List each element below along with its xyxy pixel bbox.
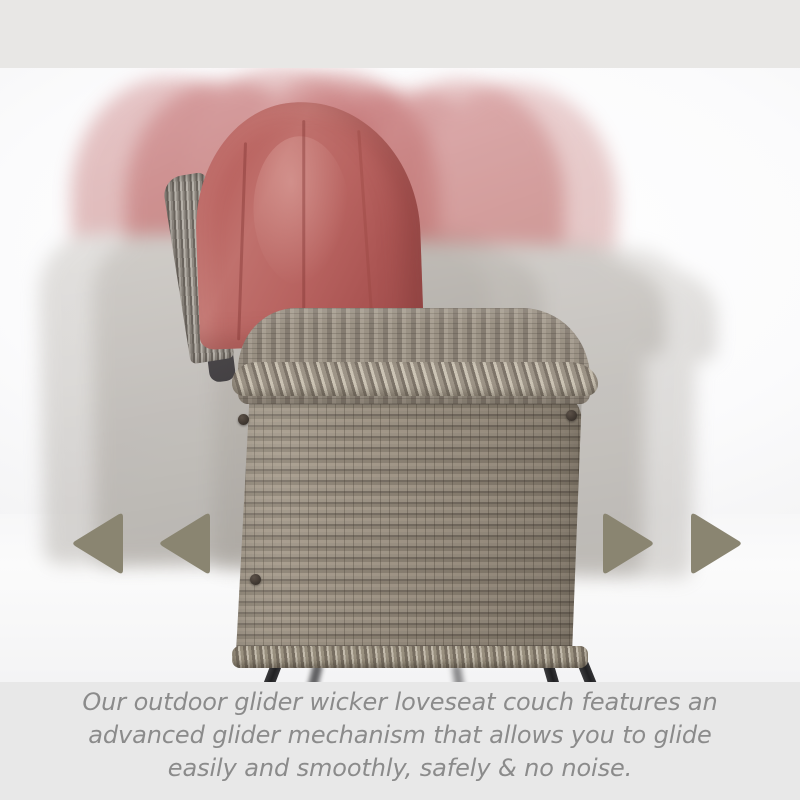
bench-armrest-lip	[232, 362, 598, 396]
product-photo	[0, 62, 800, 682]
header-band	[0, 0, 800, 68]
product-description: Our outdoor glider wicker loveseat couch…	[0, 686, 800, 785]
panel-rivet	[238, 414, 249, 425]
panel-rivet	[250, 574, 261, 585]
product-feature-banner: Patio Glider Bench With Unique Design	[0, 0, 800, 800]
description-line-3: easily and smoothly, safely & no noise.	[0, 752, 800, 785]
description-line-2: advanced glider mechanism that allows yo…	[0, 719, 800, 752]
bench-woven-side-panel	[236, 392, 582, 664]
panel-rivet	[566, 410, 577, 421]
glider-bench	[0, 62, 800, 682]
bench-bottom-rail	[232, 646, 588, 668]
description-line-1: Our outdoor glider wicker loveseat couch…	[0, 686, 800, 719]
